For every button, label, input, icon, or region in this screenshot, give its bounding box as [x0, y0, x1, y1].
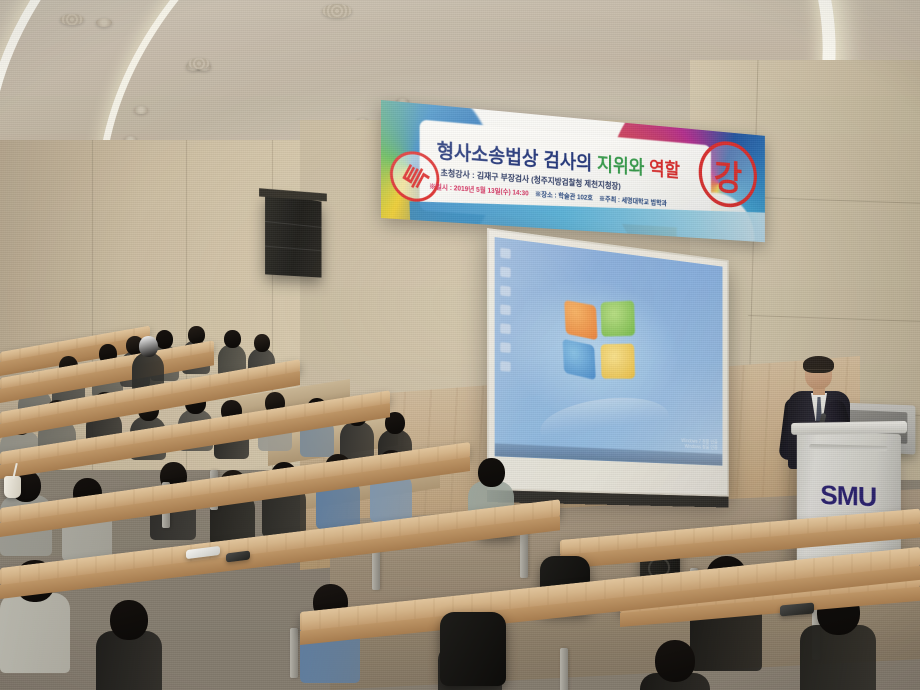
downlight: [96, 18, 112, 27]
desktop-icon: [500, 304, 510, 315]
audience-member-torso: [0, 593, 70, 673]
ceiling-vent: [188, 58, 210, 69]
audience-member-head: [254, 334, 270, 352]
desktop-icon: [500, 248, 510, 259]
desktop-icon: [500, 342, 510, 353]
desktop-icon: [500, 267, 510, 278]
lecture-hall-photo: 특 강 형사소송법상 검사의 지위와 역할 초청강사 : 김재구 부장검사 (청…: [0, 0, 920, 690]
ceiling-vent: [60, 14, 84, 25]
desktop-icon: [500, 285, 510, 296]
activation-watermark: Windows 7 정품 인증 Windows 정품 인증: [681, 438, 718, 451]
audience-member-head: [110, 600, 148, 640]
audience-member-head: [156, 330, 173, 349]
lectern-logo: SMU: [797, 479, 901, 514]
audience-member-torso: [96, 631, 162, 690]
desktop-icon: [500, 361, 510, 372]
desktop-icons: [500, 248, 512, 381]
backpack: [440, 612, 506, 686]
desk-leg: [520, 530, 528, 578]
desktop-icon: [500, 323, 510, 334]
audience-member-head: [224, 330, 241, 348]
glasses-icon: [806, 369, 831, 375]
audience-member-head: [655, 640, 695, 682]
desk-leg: [560, 648, 568, 690]
drink-cup: [4, 476, 21, 498]
ceiling-vent: [322, 4, 352, 18]
projected-desktop: Windows 7 정품 인증 Windows 정품 인증: [495, 237, 723, 466]
desk-leg: [290, 628, 298, 678]
audience-member-head: [478, 458, 505, 487]
wall-speaker: [265, 194, 321, 277]
projection-screen: Windows 7 정품 인증 Windows 정품 인증: [487, 228, 729, 497]
windows-flag-icon: [565, 302, 637, 387]
audience-member-head: [139, 336, 158, 357]
downlight: [134, 106, 148, 114]
